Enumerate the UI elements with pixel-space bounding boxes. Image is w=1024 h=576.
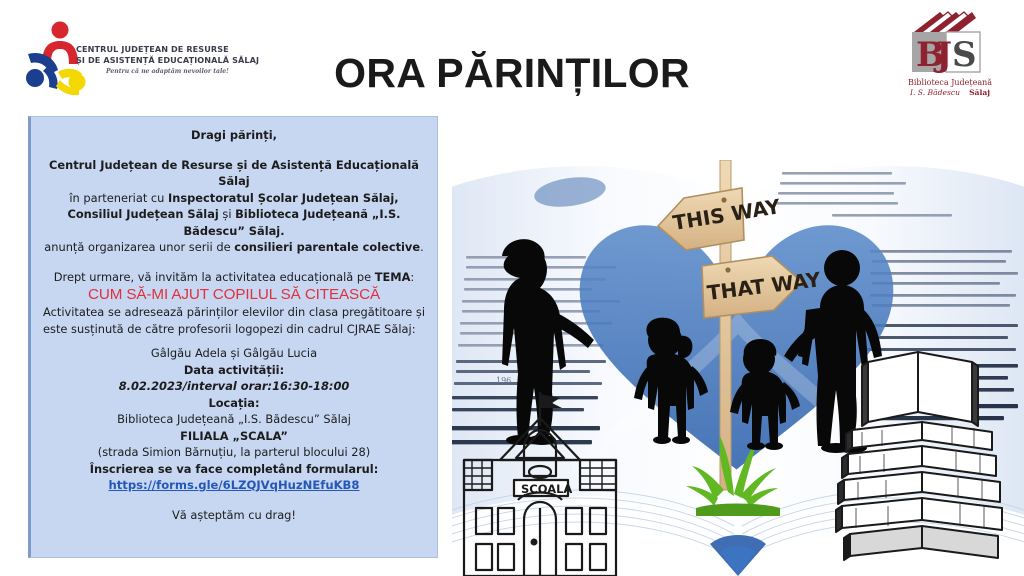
- intro-line-2: în parteneriat cu Inspectoratul Școlar J…: [43, 190, 425, 240]
- svg-text:J: J: [933, 35, 952, 75]
- date-label-text: Data activității:: [184, 363, 284, 377]
- announce-suffix: .: [420, 240, 424, 254]
- info-panel: Dragi părinți, Centrul Județean de Resur…: [28, 116, 438, 558]
- branch-name: FILIALA „SCALA”: [43, 428, 425, 445]
- spacer: [43, 144, 425, 157]
- registration-label: Înscrierea se va face completând formula…: [43, 461, 425, 478]
- spacer: [43, 494, 425, 507]
- intro-conjunction: și: [219, 207, 235, 221]
- page-title: ORA PĂRINȚILOR: [0, 50, 1024, 97]
- intro-line-3: anunță organizarea unor serii de consili…: [43, 239, 425, 256]
- address: (strada Simion Bărnuțiu, la parterul blo…: [43, 444, 425, 461]
- location-label-text: Locația:: [208, 396, 259, 410]
- registration-label-text: Înscrierea se va face completând formula…: [90, 462, 379, 476]
- spacer: [43, 337, 425, 345]
- theme-title: CUM SĂ-MI AJUT COPILUL SĂ CITEASCĂ: [43, 285, 425, 304]
- bjs-logo: B J S Biblioteca Județeană I. S. Bădescu…: [894, 8, 1002, 106]
- registration-form-link[interactable]: https://forms.gle/6LZQJVqHuzNEfuKB8: [109, 478, 360, 492]
- bjs-logo-book-icon: B J S: [900, 8, 996, 78]
- presenters: Gâlgău Adela și Gâlgău Lucia: [43, 345, 425, 362]
- bjs-caption-italic: I. S. Bădescu: [910, 88, 960, 97]
- family-reading-collage: 196: [452, 160, 1024, 576]
- bjs-caption-line1: Biblioteca Județeană: [898, 78, 1002, 88]
- svg-text:196: 196: [496, 376, 511, 385]
- organizer-name: Centrul Județean de Resurse și de Asiste…: [49, 158, 419, 189]
- invitation-colon: :: [410, 270, 414, 284]
- invitation-prefix: Drept urmare, vă invităm la activitatea …: [54, 270, 375, 284]
- svg-text:S: S: [952, 35, 977, 75]
- intro-line-1: Centrul Județean de Resurse și de Asiste…: [43, 157, 425, 190]
- date-label: Data activității:: [43, 362, 425, 379]
- theme-label: TEMA: [375, 270, 411, 284]
- form-link-row: https://forms.gle/6LZQJVqHuzNEfuKB8: [43, 477, 425, 494]
- spacer: [43, 256, 425, 269]
- closing-message: Vă așteptăm cu drag!: [43, 507, 425, 524]
- invitation-line: Drept urmare, vă invităm la activitatea …: [43, 269, 425, 286]
- audience-paragraph: Activitatea se adresează părinților elev…: [43, 304, 425, 337]
- location-value: Biblioteca Județeană „I.S. Bădescu” Săla…: [43, 411, 425, 428]
- intro-prefix: în parteneriat cu: [69, 191, 168, 205]
- date-value: 8.02.2023/interval orar:16:30-18:00: [43, 378, 425, 395]
- branch-name-text: FILIALA „SCALA”: [180, 429, 288, 443]
- location-label: Locația:: [43, 395, 425, 412]
- bjs-logo-caption: Biblioteca Județeană I. S. BădescuSălaj: [898, 78, 1002, 98]
- announce-prefix: anunță organizarea unor serii de: [44, 240, 234, 254]
- school-sign-label: ȘCOALA: [521, 482, 572, 496]
- bjs-caption-bold: Sălaj: [960, 88, 990, 97]
- bjs-caption-line2: I. S. BădescuSălaj: [898, 88, 1002, 98]
- activity-type: consilieri parentale colective: [234, 240, 420, 254]
- salutation-text: Dragi părinți,: [191, 128, 277, 142]
- salutation: Dragi părinți,: [43, 127, 425, 144]
